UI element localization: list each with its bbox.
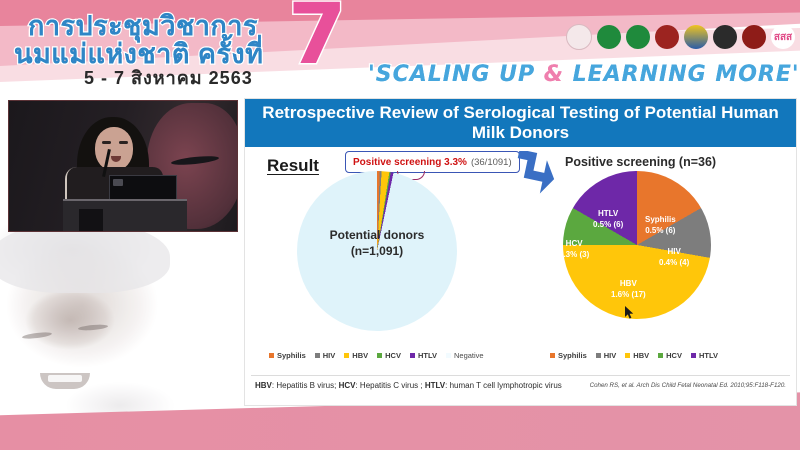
logo-royal-seal-icon: [566, 24, 592, 50]
legend-item-syphilis: Syphilis: [269, 351, 306, 360]
slice-label-htlv: HTLV 0.5% (6): [593, 209, 623, 231]
legend2-label-hiv: HIV: [604, 351, 617, 360]
slide-title-text: Retrospective Review of Serological Test…: [245, 103, 796, 144]
footnote-hcv-def: : Hepatitis C virus ;: [355, 381, 424, 390]
legend-swatch-hiv: [315, 353, 320, 358]
tagline-part1: 'SCALING UP: [368, 62, 544, 87]
legend2-item-syphilis: Syphilis: [550, 351, 587, 360]
baby-eye-right: [78, 324, 108, 332]
slice-label-hcv-name: HCV: [559, 239, 589, 250]
slice-label-hiv-name: HIV: [659, 247, 689, 258]
logo-thaihealth-icon: สสส: [771, 25, 795, 49]
slice-label-syphilis-name: Syphilis: [645, 215, 676, 226]
slice-label-syphilis: Syphilis 0.5% (6): [645, 215, 676, 237]
legend2-swatch-hcv: [658, 353, 663, 358]
presenter-video-feed[interactable]: [8, 100, 238, 232]
slice-label-hiv-value: 0.4% (4): [659, 258, 689, 269]
legend-swatch-negative: [446, 353, 451, 358]
legend-item-hiv: HIV: [315, 351, 336, 360]
baby-eye-left: [22, 331, 52, 340]
legend-swatch-htlv: [410, 353, 415, 358]
presenter-eye-right: [119, 141, 128, 144]
legend-item-negative: Negative: [446, 351, 484, 360]
result-heading: Result: [267, 156, 319, 176]
callout-detail-text: (36/1091): [471, 157, 512, 168]
legend-label-hcv: HCV: [385, 351, 401, 360]
presenter-eye-left: [102, 141, 111, 144]
legend2-item-hiv: HIV: [596, 351, 617, 360]
slide-title-bar: Retrospective Review of Serological Test…: [245, 99, 796, 147]
logo-black-emblem-icon: [713, 25, 737, 49]
slice-label-hcv: HCV 0.3% (3): [559, 239, 589, 261]
legend-item-htlv: HTLV: [410, 351, 437, 360]
conference-date: 5 - 7 สิงหาคม 2563: [84, 63, 253, 92]
legend2-swatch-hiv: [596, 353, 601, 358]
podium-panel: [79, 209, 103, 231]
legend-label-negative: Negative: [454, 351, 484, 360]
potential-donors-center-label: Potential donors (n=1,091): [297, 227, 457, 259]
slice-label-hiv: HIV 0.4% (4): [659, 247, 689, 269]
positive-screening-callout: Positive screening 3.3% (36/1091): [345, 151, 520, 173]
legend2-label-hbv: HBV: [633, 351, 649, 360]
potential-donors-count: (n=1,091): [297, 243, 457, 259]
presenter-face: [95, 127, 133, 171]
legend-label-hbv: HBV: [352, 351, 368, 360]
legend2-item-hbv: HBV: [625, 351, 649, 360]
legend-item-hcv: HCV: [377, 351, 401, 360]
tagline-part2: LEARNING MORE': [564, 62, 800, 87]
flow-arrow-icon: [513, 151, 557, 195]
legend2-label-syphilis: Syphilis: [558, 351, 587, 360]
background-baby-photo: [0, 225, 250, 430]
baby-teeth: [48, 375, 82, 382]
legend2-item-htlv: HTLV: [691, 351, 718, 360]
legend-item-hbv: HBV: [344, 351, 368, 360]
footnote-hcv-key: HCV: [339, 381, 356, 390]
footnote-htlv-def: : human T cell lymphotropic virus: [445, 381, 562, 390]
footnote-divider: [251, 375, 790, 376]
legend-label-htlv: HTLV: [418, 351, 437, 360]
slice-label-htlv-value: 0.5% (6): [593, 220, 623, 231]
logo-red-emblem-icon: [655, 25, 679, 49]
edition-number: 7: [288, 0, 346, 76]
potential-donors-legend: Syphilis HIV HBV HCV HTLV Negative: [269, 351, 484, 360]
slice-label-hcv-value: 0.3% (3): [559, 250, 589, 261]
footnote-htlv-key: HTLV: [425, 381, 445, 390]
slice-label-hbv-name: HBV: [611, 279, 646, 290]
presentation-screen: 7 7 การประชุมวิชาการ การประชุมวิชาการ นม…: [0, 0, 800, 450]
mouse-cursor-icon: [625, 306, 635, 320]
legend2-swatch-htlv: [691, 353, 696, 358]
source-citation: Cohen RS, et al. Arch Dis Child Fetal Ne…: [590, 382, 786, 389]
legend-swatch-hcv: [377, 353, 382, 358]
slice-label-htlv-name: HTLV: [593, 209, 623, 220]
logo-green-1-icon: [597, 25, 621, 49]
slice-label-hbv-value: 1.6% (17): [611, 290, 646, 301]
legend2-item-hcv: HCV: [658, 351, 682, 360]
sponsor-logos: สสส: [566, 24, 795, 50]
footnote-hbv-key: HBV: [255, 381, 272, 390]
positive-screening-legend: Syphilis HIV HBV HCV HTLV: [550, 351, 718, 360]
callout-highlight-text: Positive screening 3.3%: [353, 157, 467, 168]
logo-garuda-icon: [684, 25, 708, 49]
positive-screening-title: Positive screening (n=36): [565, 155, 716, 169]
slide-panel: Retrospective Review of Serological Test…: [245, 99, 796, 405]
legend-swatch-hbv: [344, 353, 349, 358]
tagline-ampersand: &: [544, 62, 564, 87]
legend2-label-htlv: HTLV: [699, 351, 718, 360]
legend2-swatch-hbv: [625, 353, 630, 358]
legend-label-hiv: HIV: [323, 351, 336, 360]
legend2-label-hcv: HCV: [666, 351, 682, 360]
legend-swatch-syphilis: [269, 353, 274, 358]
abbreviation-footnote: HBV: Hepatitis B virus; HCV: Hepatitis C…: [255, 381, 562, 390]
positive-screening-pie-chart: Syphilis 0.5% (6) HIV 0.4% (4) HBV 1.6% …: [563, 171, 711, 319]
logo-maroon-crest-icon: [742, 25, 766, 49]
potential-donors-title: Potential donors: [297, 227, 457, 243]
legend-label-syphilis: Syphilis: [277, 351, 306, 360]
conference-header-banner: 7 7 การประชุมวิชาการ การประชุมวิชาการ นม…: [0, 0, 800, 96]
footnote-hbv-def: : Hepatitis B virus;: [272, 381, 339, 390]
conference-tagline: 'SCALING UP & LEARNING MORE': [368, 62, 800, 87]
slice-label-hbv: HBV 1.6% (17): [611, 279, 646, 301]
slice-label-syphilis-value: 0.5% (6): [645, 226, 676, 237]
presenter-badge: [113, 179, 123, 186]
logo-green-2-icon: [626, 25, 650, 49]
legend2-swatch-syphilis: [550, 353, 555, 358]
